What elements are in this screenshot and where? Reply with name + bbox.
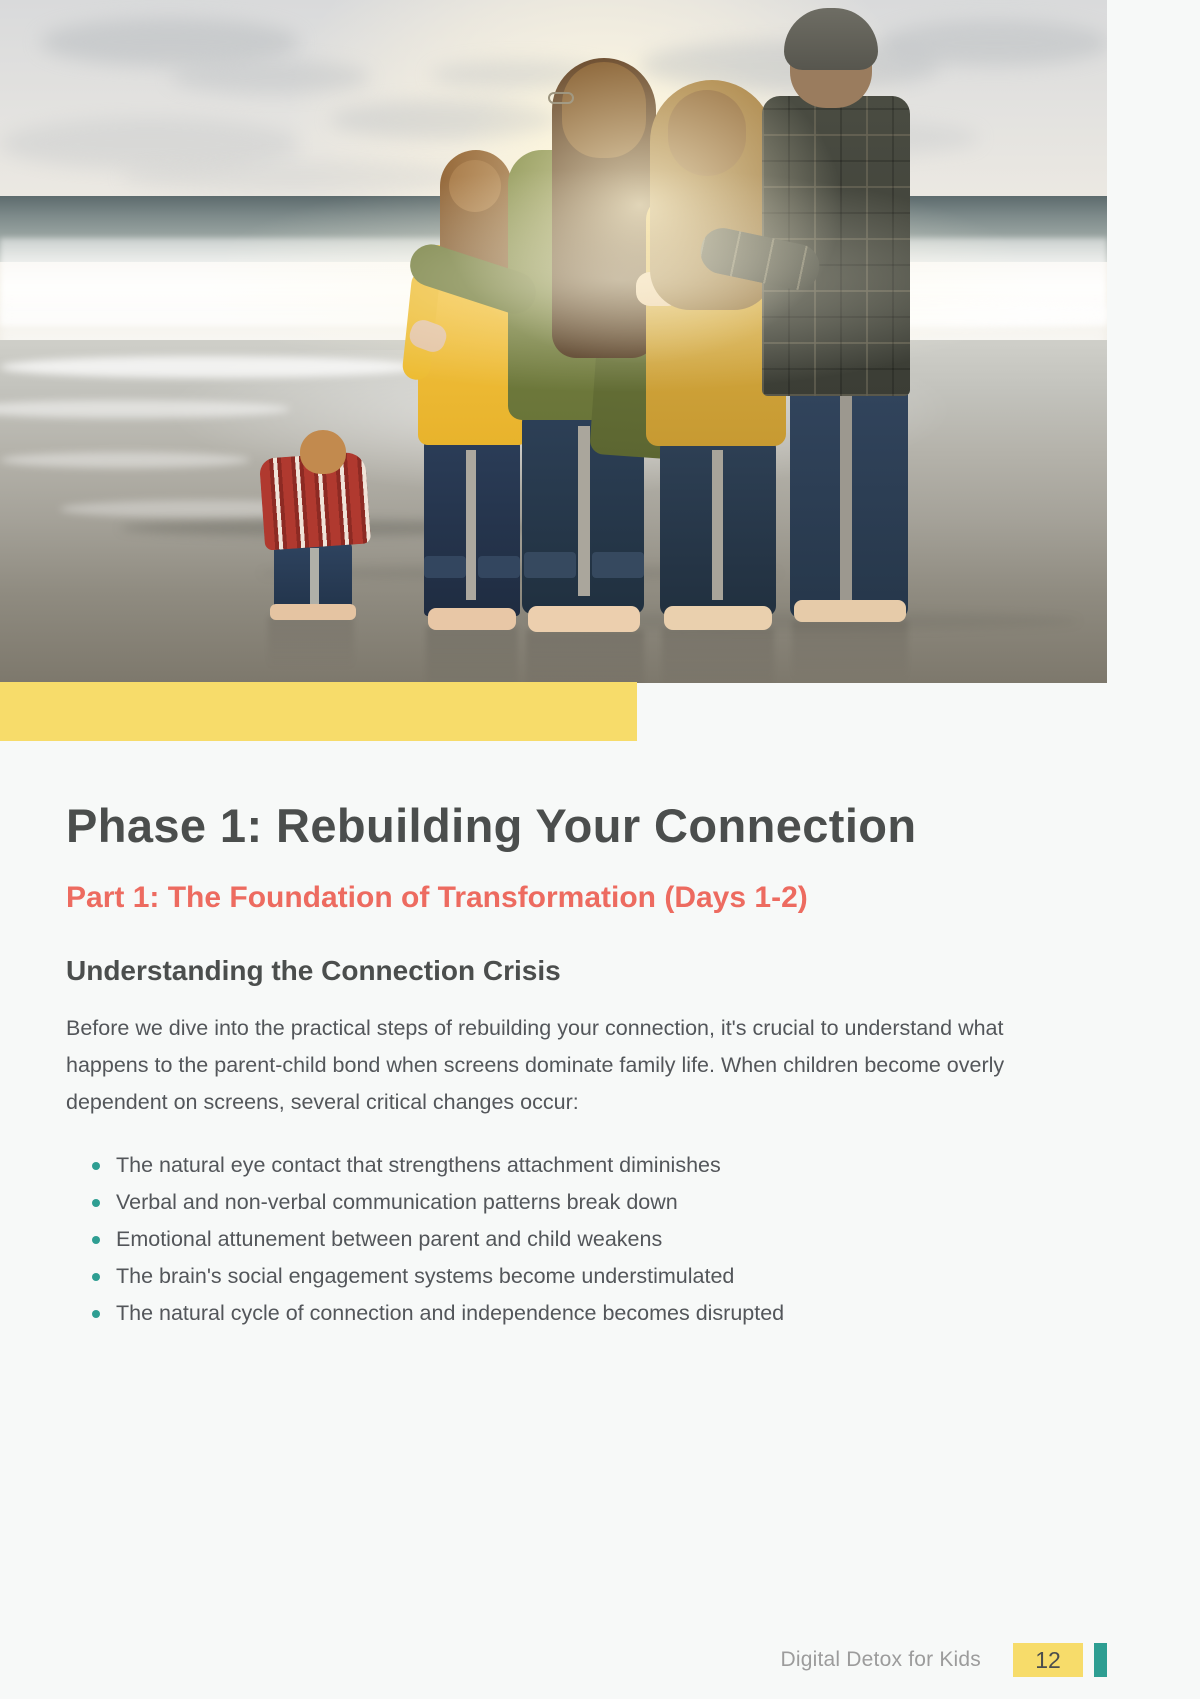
crouching-child-head (300, 430, 346, 474)
mother-head (562, 62, 646, 158)
reflection (792, 620, 908, 682)
bullet-dot-icon (92, 1236, 100, 1244)
girl-mustard-feet (664, 606, 772, 630)
jeans-cuff (524, 552, 576, 578)
sunglasses-icon (548, 92, 574, 104)
list-item-label: Emotional attunement between parent and … (116, 1227, 662, 1251)
document-page: Phase 1: Rebuilding Your Connection Part… (0, 0, 1107, 1699)
list-item: The brain's social engagement systems be… (88, 1258, 1041, 1295)
foam-line (0, 452, 250, 468)
cloud-shape (330, 100, 560, 140)
reflection (662, 628, 774, 683)
list-item-label: Verbal and non-verbal communication patt… (116, 1190, 678, 1214)
bullet-dot-icon (92, 1199, 100, 1207)
mother-leg-gap (578, 426, 590, 596)
bullet-dot-icon (92, 1162, 100, 1170)
bullet-list: The natural eye contact that strengthens… (88, 1147, 1041, 1332)
bullet-dot-icon (92, 1273, 100, 1281)
page-number-badge: 12 (1013, 1643, 1083, 1677)
girl-yellow-feet (428, 608, 516, 630)
teal-edge-tab (1094, 1643, 1107, 1677)
cloud-shape (170, 60, 370, 94)
reflection (426, 626, 518, 683)
father-feet (794, 600, 906, 622)
list-item: The natural cycle of connection and inde… (88, 1295, 1041, 1332)
hero-photo (0, 0, 1107, 683)
jeans-cuff (592, 552, 644, 578)
foam-line (0, 356, 420, 378)
page-content: Phase 1: Rebuilding Your Connection Part… (0, 741, 1107, 1332)
reflection (268, 616, 354, 670)
book-title: Digital Detox for Kids (781, 1643, 1013, 1677)
yellow-accent-bar (0, 682, 637, 741)
bullet-dot-icon (92, 1310, 100, 1318)
mother-feet (528, 606, 640, 632)
reflection (526, 630, 644, 683)
list-item: The natural eye contact that strengthens… (88, 1147, 1041, 1184)
crouching-child-feet (270, 604, 356, 620)
jeans-cuff (424, 556, 466, 578)
cloud-shape (880, 20, 1107, 66)
crouching-child-leg-gap (310, 548, 319, 606)
page-title: Phase 1: Rebuilding Your Connection (66, 799, 1041, 854)
body-paragraph: Before we dive into the practical steps … (66, 1010, 1041, 1122)
section-heading: Understanding the Connection Crisis (66, 953, 1041, 988)
list-item: Verbal and non-verbal communication patt… (88, 1184, 1041, 1221)
girl-yellow-leg-gap (466, 450, 476, 600)
father-leg-gap (840, 380, 852, 608)
list-item-label: The natural eye contact that strengthens… (116, 1153, 721, 1177)
list-item: Emotional attunement between parent and … (88, 1221, 1041, 1258)
list-item-label: The natural cycle of connection and inde… (116, 1301, 784, 1325)
cloud-shape (40, 18, 300, 66)
girl-mustard-head (668, 90, 746, 176)
girl-mustard-leg-gap (712, 450, 723, 600)
page-footer: Digital Detox for Kids 12 (0, 1635, 1107, 1699)
page-subtitle: Part 1: The Foundation of Transformation… (66, 880, 1041, 917)
cloud-shape (120, 160, 480, 194)
list-item-label: The brain's social engagement systems be… (116, 1264, 734, 1288)
jeans-cuff (478, 556, 520, 578)
girl-yellow-head (449, 160, 501, 212)
